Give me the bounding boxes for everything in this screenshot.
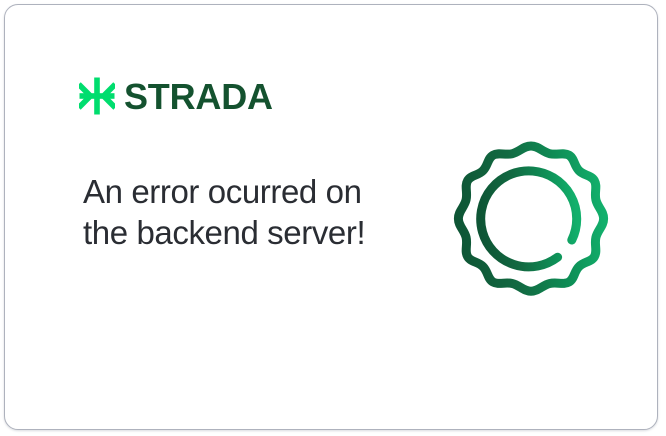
gear-cog-icon bbox=[445, 137, 617, 309]
error-message-text: An error ocurred on the backend server! bbox=[83, 171, 383, 253]
brand-wordmark: STRADA bbox=[124, 79, 273, 115]
brand-lockup: STRADA bbox=[79, 73, 273, 119]
strada-asterisk-icon bbox=[79, 77, 115, 115]
error-card: STRADA An error ocurred on the backend s… bbox=[4, 4, 658, 430]
